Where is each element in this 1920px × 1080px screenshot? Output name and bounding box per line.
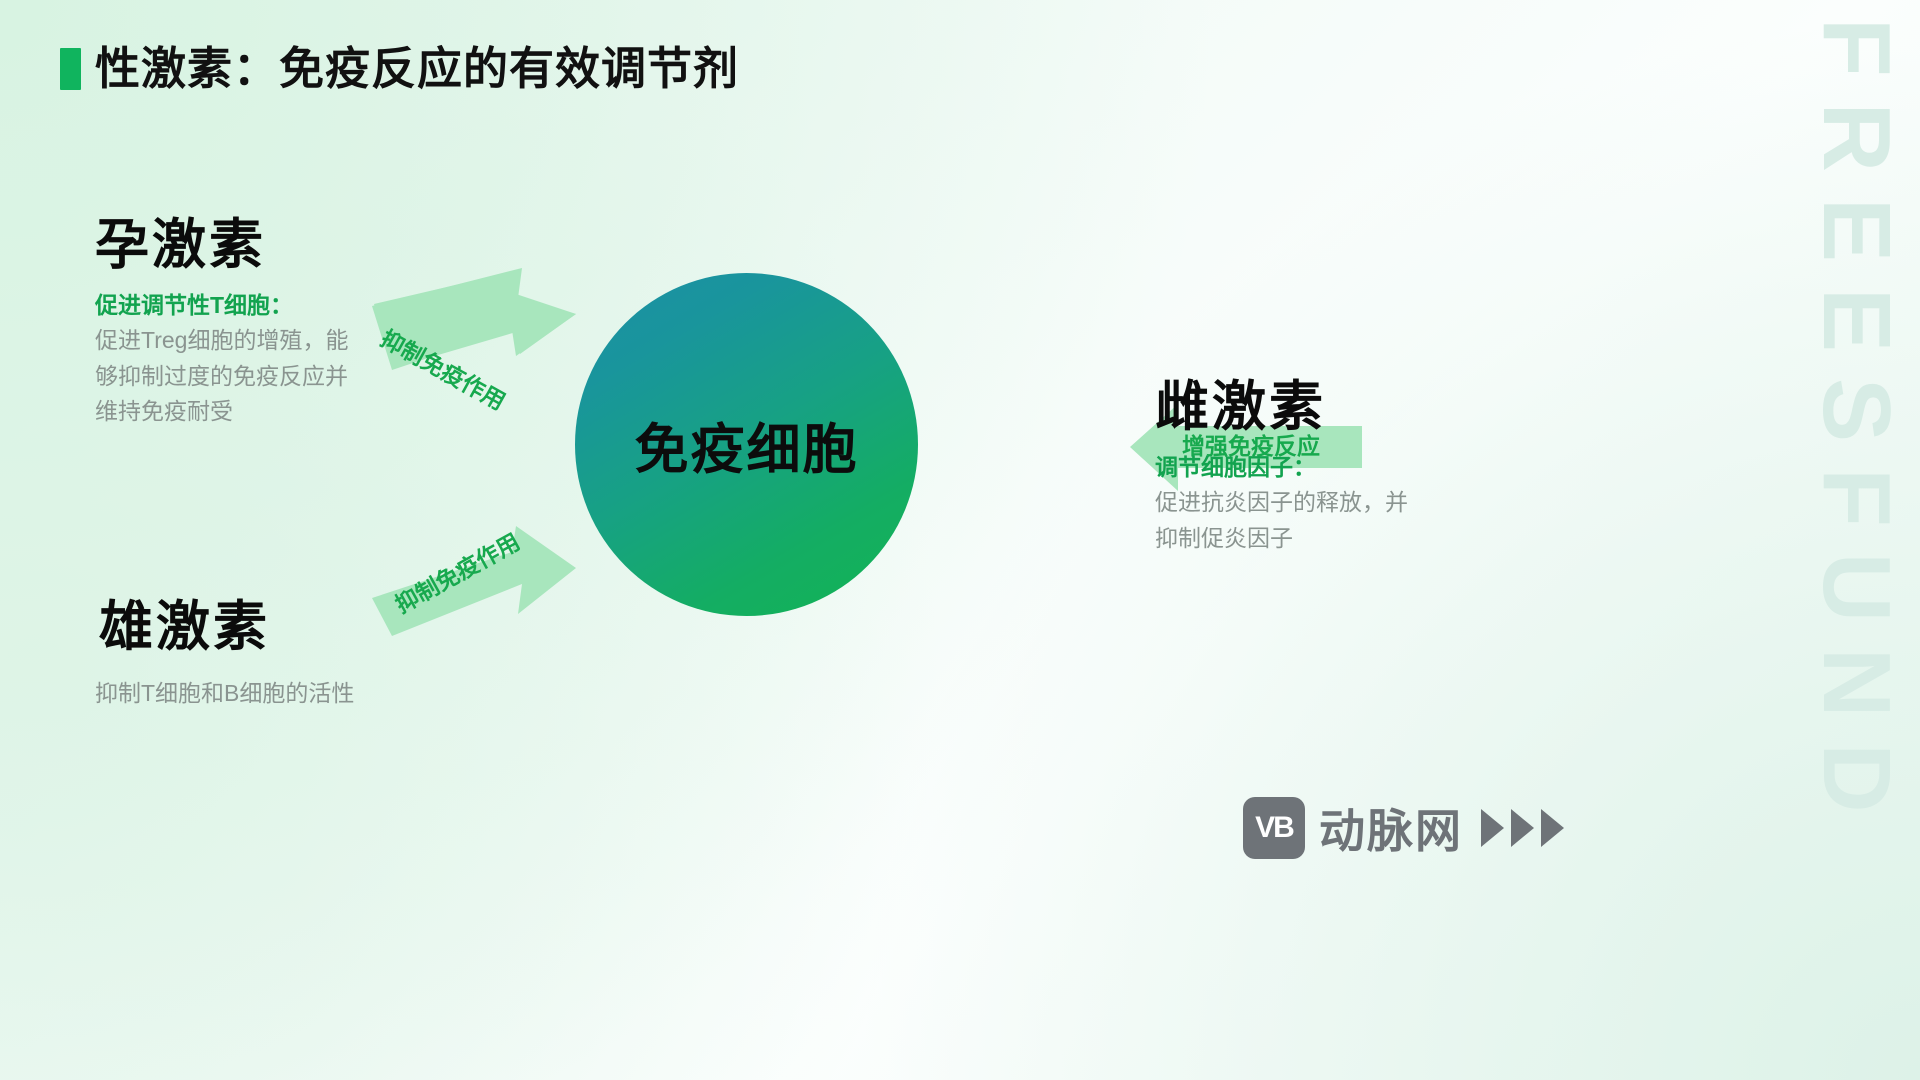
title-marker-icon (60, 48, 81, 90)
progesterone-block: 孕激素 促进调节性T细胞： 促进Treg细胞的增殖，能够抑制过度的免疫反应并维持… (95, 218, 363, 430)
estrogen-title: 雌激素 (1155, 380, 1423, 434)
logo-wordmark: 动脉网 (1319, 795, 1463, 861)
progesterone-arrow: 抑制免疫作用 (370, 268, 585, 418)
slide-canvas: 性激素：免疫反应的有效调节剂 FREESFUND 抑制免疫作用 抑制免疫作用 增… (0, 0, 1920, 1080)
estrogen-subtitle: 调节细胞因子： (1155, 452, 1423, 483)
progesterone-title: 孕激素 (95, 218, 363, 272)
logo-badge-icon: VB (1243, 797, 1305, 859)
androgen-block: 雄激素 抑制T细胞和B细胞的活性 (95, 600, 363, 712)
immune-cell-label: 免疫细胞 (635, 405, 859, 484)
publisher-logo: VB 动脉网 (1243, 795, 1564, 861)
page-title: 性激素：免疫反应的有效调节剂 (60, 46, 739, 91)
triangle-icon-1 (1481, 809, 1504, 847)
androgen-title: 雄激素 (99, 600, 363, 654)
page-title-text: 性激素：免疫反应的有效调节剂 (95, 46, 739, 91)
estrogen-body: 促进抗炎因子的释放，并抑制促炎因子 (1155, 485, 1423, 556)
androgen-arrow: 抑制免疫作用 (370, 488, 585, 638)
androgen-body: 抑制T细胞和B细胞的活性 (95, 676, 363, 712)
progesterone-subtitle: 促进调节性T细胞： (95, 290, 363, 321)
triangle-icon-3 (1541, 809, 1564, 847)
estrogen-block: 雌激素 调节细胞因子： 促进抗炎因子的释放，并抑制促炎因子 (1155, 380, 1423, 556)
brand-watermark: FREESFUND (1784, 18, 1904, 978)
progesterone-body: 促进Treg细胞的增殖，能够抑制过度的免疫反应并维持免疫耐受 (95, 323, 363, 430)
immune-cell-circle: 免疫细胞 (575, 273, 918, 616)
triangle-icon-2 (1511, 809, 1534, 847)
logo-triangles-icon (1481, 809, 1564, 847)
